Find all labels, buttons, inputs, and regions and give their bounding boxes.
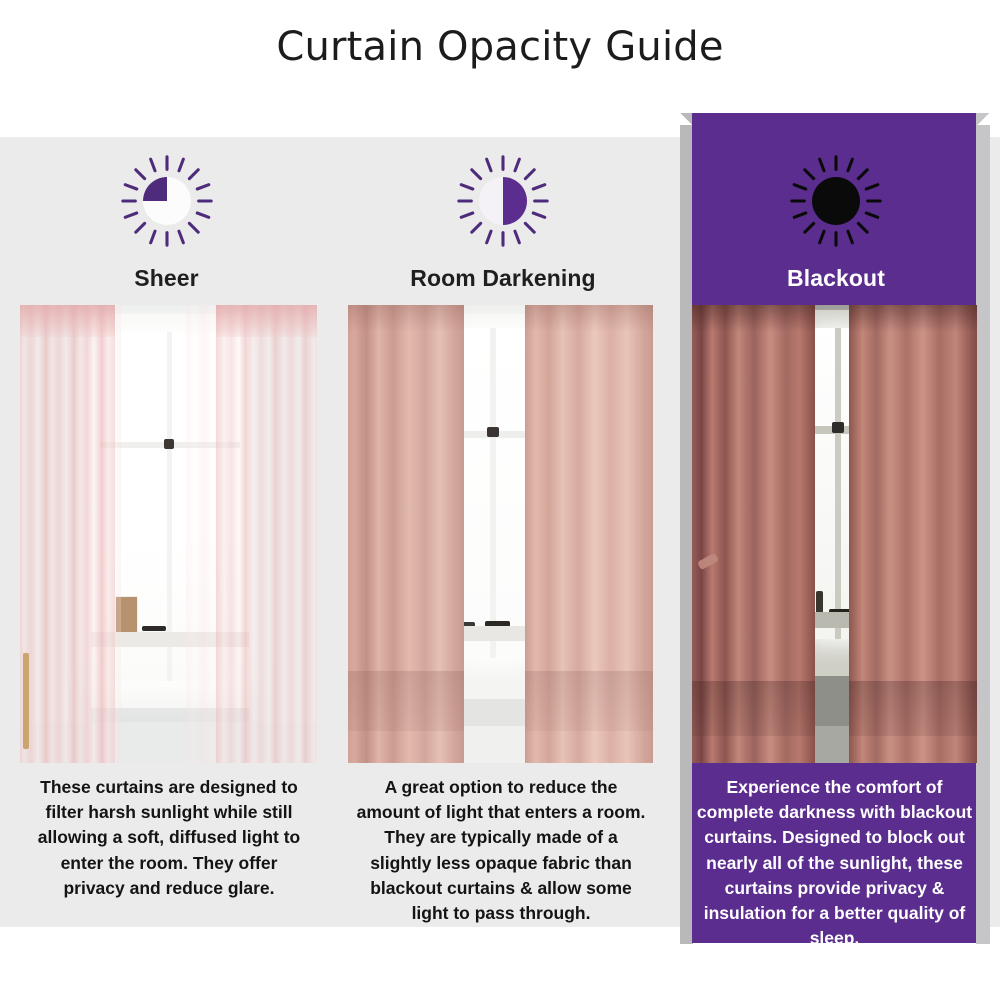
sheer-curtain-photo	[20, 305, 317, 763]
comparison-columns: Sheer These curtains are d	[0, 137, 1000, 957]
column-sheer[interactable]: Sheer These curtains are d	[0, 137, 333, 957]
column-label-room-darkening: Room Darkening	[333, 265, 673, 292]
caption-blackout: Experience the comfort of complete darkn…	[692, 775, 977, 951]
blackout-icon-zone	[680, 137, 992, 265]
sun-quarter-filled-icon	[119, 153, 215, 249]
sheer-icon-zone	[0, 137, 333, 265]
column-label-sheer: Sheer	[0, 265, 333, 292]
caption-room-darkening: A great option to reduce the amount of l…	[355, 775, 647, 926]
blackout-curtain-photo	[692, 305, 977, 763]
room-darkening-curtain-photo	[348, 305, 653, 763]
column-label-blackout: Blackout	[680, 265, 992, 292]
photo-blackout	[692, 305, 977, 763]
page-title: Curtain Opacity Guide	[0, 24, 1000, 70]
room-darkening-icon-zone	[333, 137, 673, 265]
column-blackout[interactable]: Blackout Experience the co	[680, 137, 992, 957]
sun-fully-filled-icon	[788, 153, 884, 249]
blackout-panel-bevel-top-right	[976, 113, 990, 126]
photo-sheer	[20, 305, 317, 763]
photo-room-darkening	[348, 305, 653, 763]
column-room-darkening[interactable]: Room Darkening A great option to re	[333, 137, 673, 957]
sun-half-filled-icon	[455, 153, 551, 249]
caption-sheer: These curtains are designed to filter ha…	[30, 775, 308, 901]
